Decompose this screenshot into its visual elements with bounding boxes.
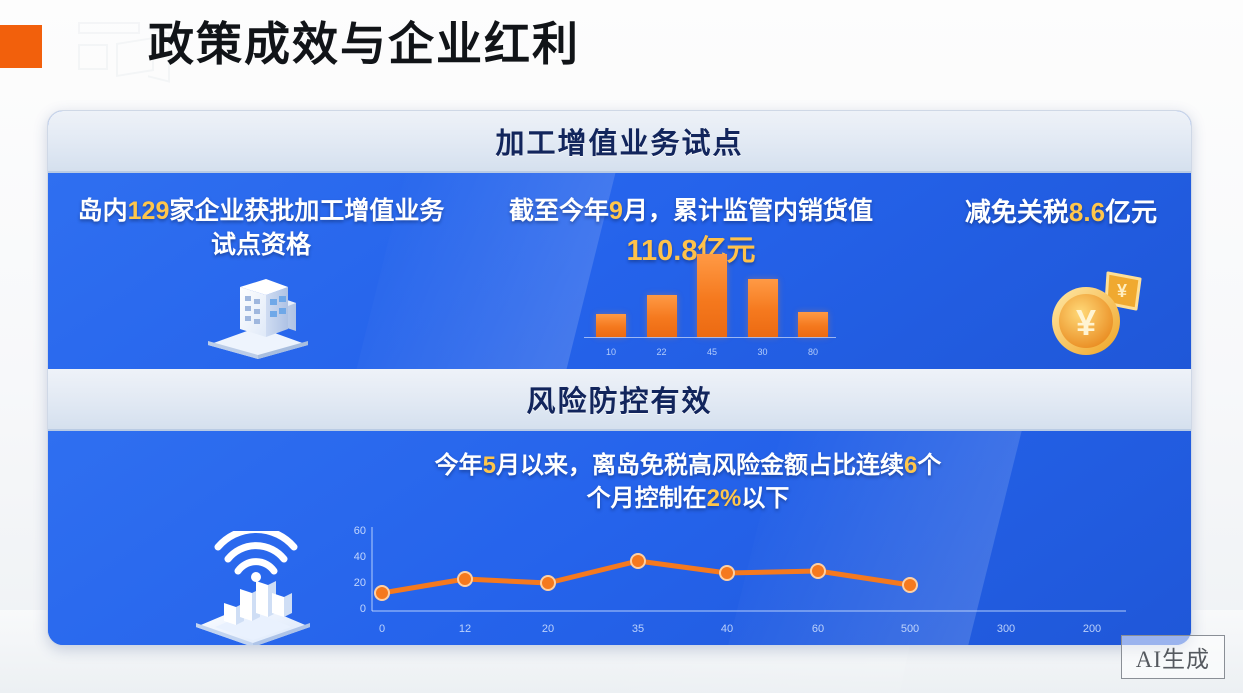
- stat-column-enterprises: 岛内129家企业获批加工增值业务试点资格: [76, 195, 446, 262]
- risk-text-e: 以下: [741, 485, 789, 512]
- line-xlabel: 12: [459, 623, 471, 635]
- stat-highlight-value: 129: [128, 197, 170, 225]
- risk-highlight-percent: 2%: [707, 485, 742, 512]
- line-ylabel: 20: [354, 577, 366, 589]
- section-header-risk: 风险防控有效: [48, 369, 1191, 431]
- bar-item: [748, 279, 778, 337]
- line-xlabel: 500: [901, 623, 919, 635]
- stat-highlight-month: 9: [609, 197, 623, 225]
- bar-chart-xlabels: 10 22 45 30 80: [596, 347, 828, 357]
- bar-item: [697, 254, 727, 337]
- bar-item: [798, 312, 828, 337]
- stat-text-tariff-reduction: 减免关税8.6亿元: [936, 195, 1186, 230]
- page-title: 政策成效与企业红利: [148, 12, 580, 76]
- risk-highlight-count: 6: [904, 452, 917, 479]
- yuan-coin-icon: ¥ ¥: [1036, 265, 1148, 361]
- line-xlabel: 300: [997, 623, 1015, 635]
- line-xlabel: 20: [542, 623, 554, 635]
- bar-xlabel: 30: [748, 347, 778, 357]
- risk-stat-text: 今年5月以来，离岛免税高风险金额占比连续6个 个月控制在2%以下: [378, 449, 998, 515]
- section-title-risk: 风险防控有效: [526, 378, 712, 420]
- risk-text-b: 月以来，离岛免税高风险金额占比连续: [496, 452, 904, 479]
- bar-xlabel: 10: [596, 347, 626, 357]
- building-icon: [200, 273, 316, 359]
- section-panel-processing: 岛内129家企业获批加工增值业务试点资格 截至今年9月，累计监管内销货值 110…: [48, 173, 1191, 369]
- ai-generated-watermark: AI生成: [1121, 635, 1225, 679]
- bar-item: [647, 295, 677, 337]
- stat-suffix: 月，累计监管内销货值: [623, 197, 873, 225]
- stat-highlight-amount: 8.6: [1069, 197, 1105, 227]
- line-chart-plot: [370, 527, 1126, 615]
- line-xlabel: 40: [721, 623, 733, 635]
- bar-chart: 10 22 45 30 80: [568, 241, 836, 361]
- risk-text-a: 今年: [435, 452, 483, 479]
- risk-content-row: 今年5月以来，离岛免税高风险金额占比连续6个 个月控制在2%以下: [48, 431, 1191, 646]
- line-xlabel: 200: [1083, 623, 1101, 635]
- bar-chart-bars: [596, 243, 828, 337]
- stat-column-tariff-reduction: 减免关税8.6亿元: [936, 195, 1186, 230]
- section-title-processing: 加工增值业务试点: [495, 120, 743, 162]
- stat-prefix: 岛内: [78, 197, 128, 225]
- section-header-processing: 加工增值业务试点: [48, 111, 1191, 173]
- line-ylabel: 60: [354, 525, 366, 537]
- slide-header: 政策成效与企业红利: [0, 0, 1243, 92]
- bar-chart-axis: [584, 337, 836, 338]
- signal-bars-icon: [188, 531, 318, 646]
- bar-xlabel: 45: [697, 347, 727, 357]
- risk-text-d: 个月控制在: [587, 485, 707, 512]
- section-panel-risk: 今年5月以来，离岛免税高风险金额占比连续6个 个月控制在2%以下: [48, 431, 1191, 646]
- line-xlabel: 60: [812, 623, 824, 635]
- line-ylabel: 40: [354, 551, 366, 563]
- content-card: 加工增值业务试点 岛内129家企业获批加工增值业务试点资格 截至今年9月，累计监…: [47, 110, 1192, 646]
- line-xlabel: 0: [379, 623, 385, 635]
- risk-text-c: 个: [917, 452, 941, 479]
- stat-prefix: 减免关税: [965, 197, 1069, 227]
- line-xlabel: 35: [632, 623, 644, 635]
- risk-highlight-month: 5: [483, 452, 496, 479]
- stat-suffix: 亿元: [1105, 197, 1157, 227]
- title-marker-square: [0, 25, 42, 68]
- stat-text-enterprises: 岛内129家企业获批加工增值业务试点资格: [76, 195, 446, 262]
- line-chart-xlabels: 0 12 20 35 40 60 500 300 200: [370, 623, 1126, 639]
- stat-suffix: 家企业获批加工增值业务试点资格: [169, 197, 444, 259]
- bar-xlabel: 22: [647, 347, 677, 357]
- svg-text:¥: ¥: [1076, 302, 1096, 343]
- line-chart-ylabels: 60 40 20 0: [336, 527, 366, 611]
- line-ylabel: 0: [360, 603, 366, 615]
- stat-prefix: 截至今年: [509, 197, 609, 225]
- svg-text:¥: ¥: [1117, 281, 1127, 301]
- bar-item: [596, 314, 626, 337]
- line-chart: 60 40 20 0: [336, 527, 1126, 639]
- bar-xlabel: 80: [798, 347, 828, 357]
